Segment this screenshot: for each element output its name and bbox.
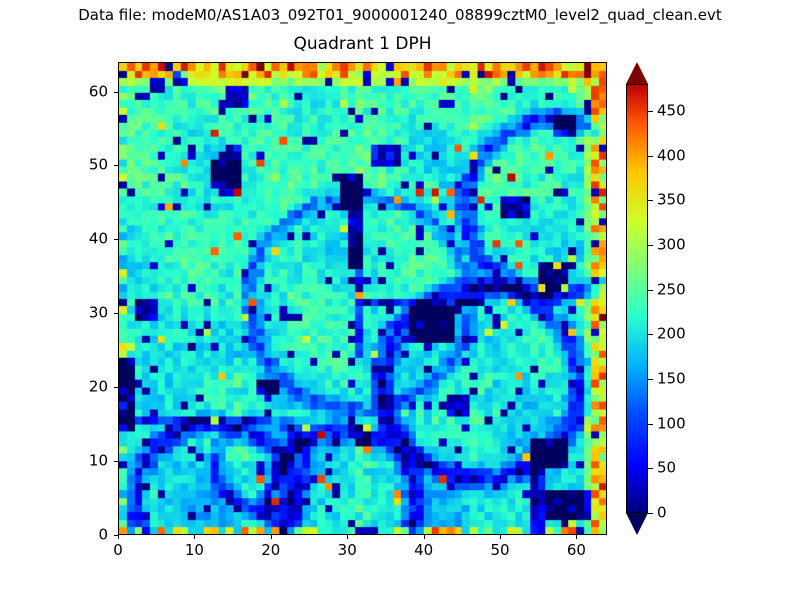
y-tick-label: 60 — [74, 83, 108, 100]
colorbar-tick-label: 400 — [657, 147, 686, 164]
colorbar-tick-mark — [648, 334, 653, 335]
x-tick-mark — [347, 535, 348, 539]
colorbar-tick-label: 350 — [657, 192, 686, 209]
colorbar-tick-mark — [648, 379, 653, 380]
colorbar-tick-label: 100 — [657, 415, 686, 432]
y-tick-mark — [114, 313, 118, 314]
y-tick-label: 50 — [74, 157, 108, 174]
colorbar-tick-mark — [648, 200, 653, 201]
colorbar-tick-label: 250 — [657, 281, 686, 298]
x-tick-label: 0 — [113, 542, 123, 559]
colorbar-tick-label: 450 — [657, 102, 686, 119]
colorbar-tick-label: 50 — [657, 460, 676, 477]
colorbar-tick-label: 300 — [657, 236, 686, 253]
colorbar-gradient — [626, 84, 648, 513]
detector-heatmap-image[interactable] — [119, 63, 606, 534]
y-tick-label: 30 — [74, 305, 108, 322]
y-tick-mark — [114, 535, 118, 536]
colorbar-tick-mark — [648, 245, 653, 246]
colorbar-tick-mark — [648, 468, 653, 469]
x-tick-label: 10 — [185, 542, 204, 559]
colorbar-tick-label: 150 — [657, 370, 686, 387]
colorbar-tick-mark — [648, 290, 653, 291]
y-tick-mark — [114, 239, 118, 240]
y-tick-mark — [114, 92, 118, 93]
colorbar-tick-label: 200 — [657, 326, 686, 343]
y-tick-label: 40 — [74, 231, 108, 248]
heatmap-axes[interactable] — [118, 62, 607, 535]
x-tick-mark — [424, 535, 425, 539]
data-file-label: Data file: modeM0/AS1A03_092T01_90000012… — [0, 5, 800, 25]
y-tick-mark — [114, 165, 118, 166]
colorbar-tick-mark — [648, 156, 653, 157]
y-tick-label: 10 — [74, 453, 108, 470]
x-tick-label: 60 — [567, 542, 586, 559]
y-tick-label: 0 — [74, 527, 108, 544]
plot-title: Quadrant 1 DPH — [118, 33, 607, 55]
colorbar-extend-min-arrow — [626, 513, 648, 535]
y-tick-mark — [114, 461, 118, 462]
colorbar-extend-max-arrow — [626, 62, 648, 84]
y-tick-label: 20 — [74, 379, 108, 396]
x-tick-mark — [500, 535, 501, 539]
colorbar-tick-mark — [648, 111, 653, 112]
y-tick-mark — [114, 387, 118, 388]
colorbar-tick-label: 0 — [657, 505, 667, 522]
x-tick-label: 20 — [261, 542, 280, 559]
x-tick-mark — [118, 535, 119, 539]
x-tick-mark — [271, 535, 272, 539]
x-tick-label: 40 — [414, 542, 433, 559]
colorbar-tick-mark — [648, 513, 653, 514]
x-tick-label: 30 — [338, 542, 357, 559]
x-tick-mark — [194, 535, 195, 539]
colorbar[interactable]: 050100150200250300350400450 — [626, 62, 648, 535]
x-tick-mark — [576, 535, 577, 539]
colorbar-tick-mark — [648, 424, 653, 425]
figure-canvas: Data file: modeM0/AS1A03_092T01_90000012… — [0, 0, 800, 600]
x-tick-label: 50 — [490, 542, 509, 559]
